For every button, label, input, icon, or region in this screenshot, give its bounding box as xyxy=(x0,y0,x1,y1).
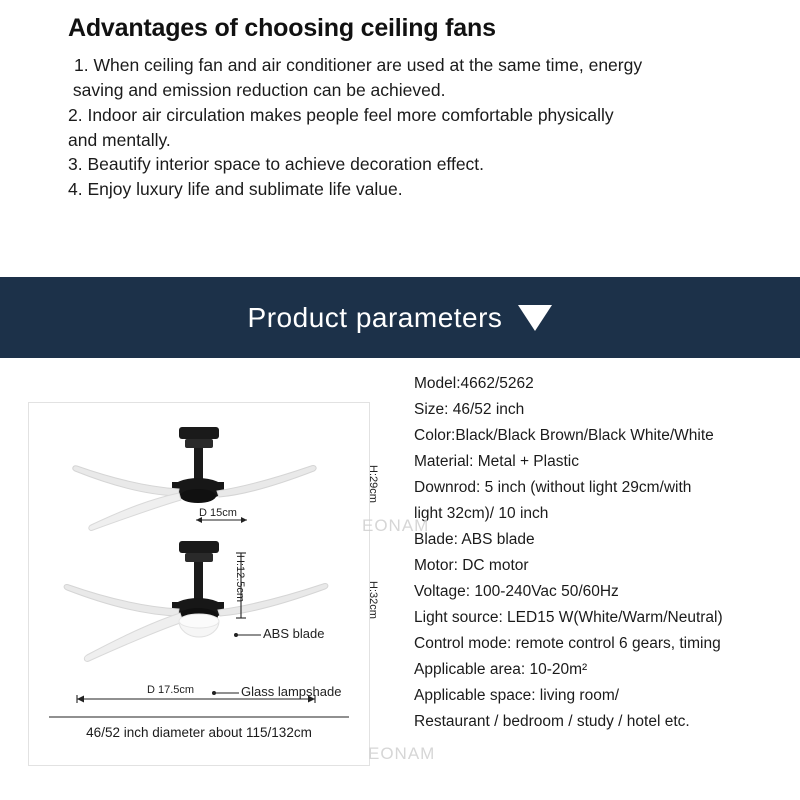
label-height-top: H:29cm xyxy=(367,465,379,503)
spec-control-mode: Control mode: remote control 6 gears, ti… xyxy=(414,636,794,652)
product-parameters-title: Product parameters xyxy=(248,302,503,334)
spec-size: Size: 46/52 inch xyxy=(414,402,794,418)
page-title: Advantages of choosing ceiling fans xyxy=(68,14,770,43)
advantage-line-5: 3. Beautify interior space to achieve de… xyxy=(68,152,770,177)
label-diameter-top: D 15cm xyxy=(199,507,237,519)
parameters-section: H:29cm H:32cm D 15cm D 17.5cm H:12.5cm A… xyxy=(0,358,800,800)
spec-model: Model:4662/5262 xyxy=(414,376,794,392)
product-detail-page: Advantages of choosing ceiling fans 1. W… xyxy=(0,0,800,800)
advantage-line-6: 4. Enjoy luxury life and sublimate life … xyxy=(68,177,770,202)
spec-list: Model:4662/5262 Size: 46/52 inch Color:B… xyxy=(414,376,794,740)
label-diameter-bottom: D 17.5cm xyxy=(147,684,194,696)
down-triangle-icon xyxy=(518,305,552,331)
fan-diagram-svg xyxy=(29,403,369,723)
label-h125: H:12.5cm xyxy=(234,555,246,602)
advantages-section: Advantages of choosing ceiling fans 1. W… xyxy=(0,0,800,202)
spec-voltage: Voltage: 100-240Vac 50/60Hz xyxy=(414,584,794,600)
spec-applicable-space-line2: Restaurant / bedroom / study / hotel etc… xyxy=(414,714,794,730)
diagram-caption: 46/52 inch diameter about 115/132cm xyxy=(29,725,369,740)
spec-downrod-line2: light 32cm)/ 10 inch xyxy=(414,506,794,522)
spec-downrod-line1: Downrod: 5 inch (without light 29cm/with xyxy=(414,480,794,496)
label-abs-blade: ABS blade xyxy=(263,626,324,641)
product-parameters-banner: Product parameters xyxy=(0,277,800,358)
spec-blade: Blade: ABS blade xyxy=(414,532,794,548)
advantage-line-4: and mentally. xyxy=(68,128,770,153)
spec-color: Color:Black/Black Brown/Black White/Whit… xyxy=(414,428,794,444)
spec-light-source: Light source: LED15 W(White/Warm/Neutral… xyxy=(414,610,794,626)
advantage-line-3: 2. Indoor air circulation makes people f… xyxy=(68,103,770,128)
fan-dimension-diagram: H:29cm H:32cm D 15cm D 17.5cm H:12.5cm A… xyxy=(28,402,370,766)
label-glass-lampshade: Glass lampshade xyxy=(241,684,341,699)
advantage-line-2: saving and emission reduction can be ach… xyxy=(68,78,770,103)
spec-applicable-space-line1: Applicable space: living room/ xyxy=(414,688,794,704)
advantage-line-1: 1. When ceiling fan and air conditioner … xyxy=(68,53,770,78)
label-height-bottom: H:32cm xyxy=(367,581,379,619)
spec-motor: Motor: DC motor xyxy=(414,558,794,574)
spec-applicable-area: Applicable area: 10-20m² xyxy=(414,662,794,678)
spec-material: Material: Metal + Plastic xyxy=(414,454,794,470)
